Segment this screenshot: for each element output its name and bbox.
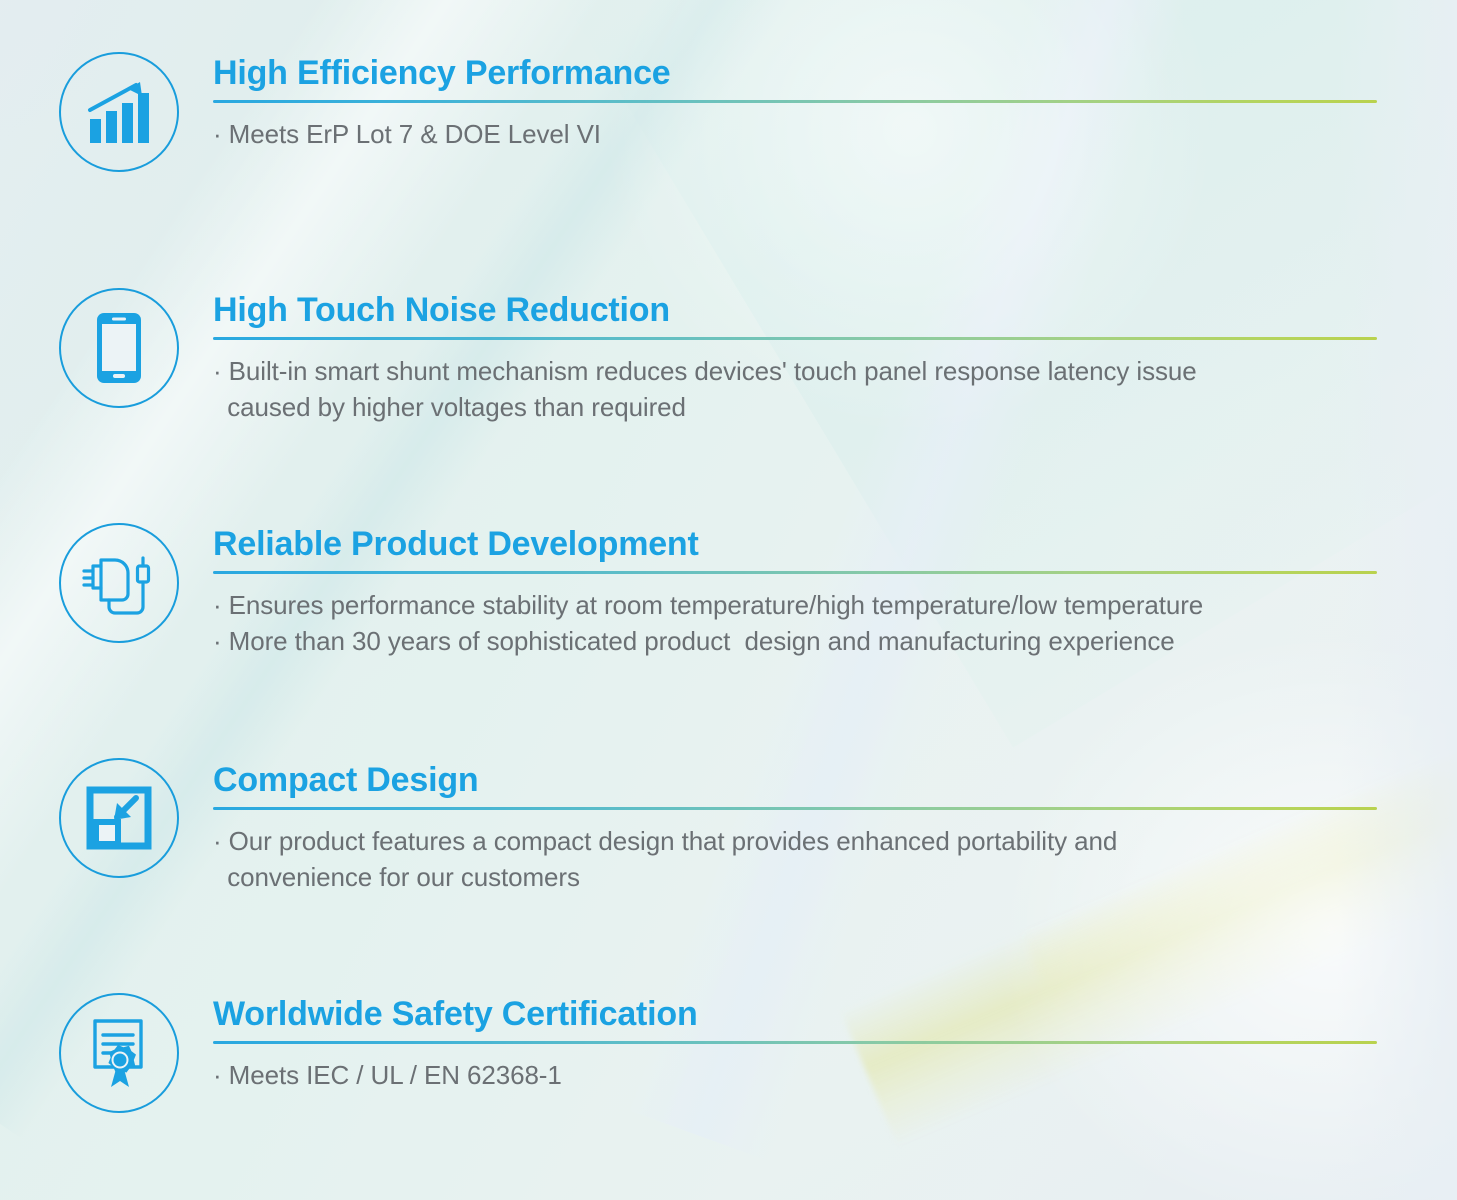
feature-text-column: High Efficiency Performance · Meets ErP …: [213, 55, 1377, 153]
feature-bullets: · Meets IEC / UL / EN 62368-1: [213, 1058, 1377, 1094]
feature-bullet: · More than 30 years of sophisticated pr…: [213, 624, 1377, 660]
feature-bullets: · Meets ErP Lot 7 & DOE Level VI: [213, 117, 1377, 153]
feature-icon-wrapper: [59, 288, 179, 408]
feature-bullets: · Built-in smart shunt mechanism reduces…: [213, 354, 1377, 425]
feature-divider: [213, 571, 1377, 574]
feature-title: Worldwide Safety Certification: [213, 996, 1377, 1032]
feature-icon-wrapper: [59, 52, 179, 172]
feature-bullet: · Built-in smart shunt mechanism reduces…: [213, 354, 1377, 425]
feature-bullet: · Meets IEC / UL / EN 62368-1: [213, 1058, 1377, 1094]
feature-title: High Touch Noise Reduction: [213, 292, 1377, 328]
feature-icon-wrapper: [59, 758, 179, 878]
feature-text-column: Reliable Product Development · Ensures p…: [213, 526, 1377, 659]
feature-divider: [213, 807, 1377, 810]
feature-divider: [213, 1041, 1377, 1044]
feature-text-column: Worldwide Safety Certification · Meets I…: [213, 996, 1377, 1094]
power-adapter-icon: [59, 523, 179, 643]
feature-bullet: · Our product features a compact design …: [213, 824, 1377, 895]
smartphone-icon: [59, 288, 179, 408]
feature-icon-wrapper: [59, 993, 179, 1113]
features-container: High Efficiency Performance · Meets ErP …: [0, 0, 1457, 1200]
certificate-seal-icon: [59, 993, 179, 1113]
feature-list-page: High Efficiency Performance · Meets ErP …: [0, 0, 1457, 1200]
feature-title: Reliable Product Development: [213, 526, 1377, 562]
feature-bullets: · Ensures performance stability at room …: [213, 588, 1377, 659]
feature-text-column: Compact Design · Our product features a …: [213, 762, 1377, 895]
feature-title: High Efficiency Performance: [213, 55, 1377, 91]
feature-bullet: · Meets ErP Lot 7 & DOE Level VI: [213, 117, 1377, 153]
feature-icon-wrapper: [59, 523, 179, 643]
feature-divider: [213, 100, 1377, 103]
bar-chart-growth-icon: [59, 52, 179, 172]
feature-text-column: High Touch Noise Reduction · Built-in sm…: [213, 292, 1377, 425]
compact-resize-icon: [59, 758, 179, 878]
feature-bullet: · Ensures performance stability at room …: [213, 588, 1377, 624]
feature-divider: [213, 337, 1377, 340]
feature-title: Compact Design: [213, 762, 1377, 798]
feature-bullets: · Our product features a compact design …: [213, 824, 1377, 895]
